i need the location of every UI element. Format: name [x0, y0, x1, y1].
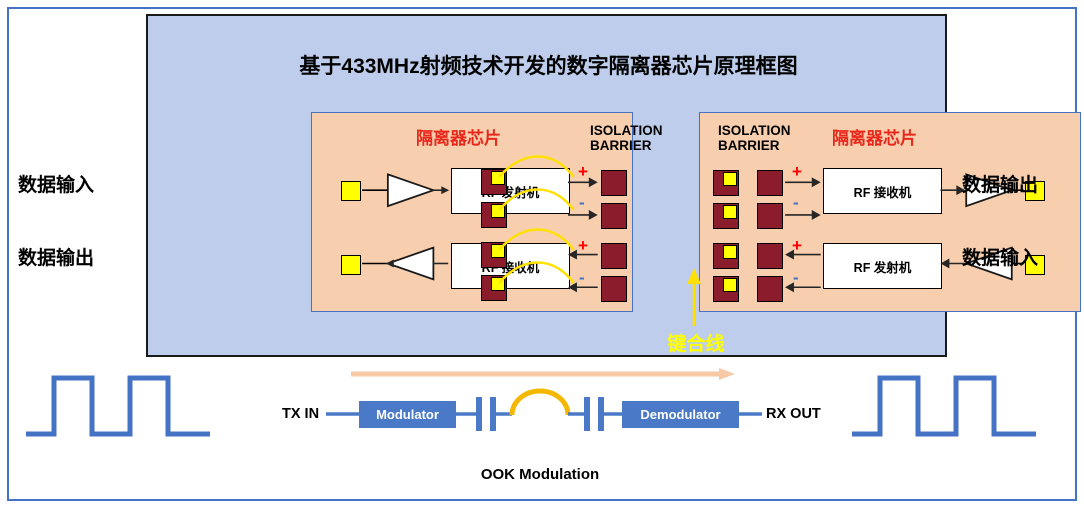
isolation-pad-left-b2 — [481, 202, 507, 228]
isolation-pad-left-b4 — [481, 275, 507, 301]
label-right-data-input: 数据输入 — [962, 243, 1038, 270]
bond-wires — [148, 16, 949, 359]
bondwire-layer — [148, 16, 949, 359]
bond-square — [491, 204, 505, 218]
label-right-data-output: 数据输出 — [962, 170, 1038, 197]
label-left-data-input: 数据输入 — [18, 170, 94, 197]
bond-square — [491, 171, 505, 185]
diagram-page: 基于433MHz射频技术开发的数字隔离器芯片原理框图 隔离器芯片 ISOLATI… — [0, 0, 1084, 507]
isolation-pad-left-b1 — [481, 169, 507, 195]
label-left-data-output: 数据输出 — [18, 243, 94, 270]
signal-flow-arrow — [345, 366, 740, 382]
bondwire-caption: 键合线 — [626, 329, 766, 356]
schematic-panel: 基于433MHz射频技术开发的数字隔离器芯片原理框图 隔离器芯片 ISOLATI… — [146, 14, 947, 357]
ook-modulation-caption: OOK Modulation — [380, 466, 700, 483]
bond-square — [491, 244, 505, 258]
output-waveform — [848, 366, 1058, 441]
bond-square — [491, 277, 505, 291]
ook-signal-path — [280, 386, 800, 446]
input-waveform — [22, 366, 232, 441]
isolation-pad-left-b3 — [481, 242, 507, 268]
